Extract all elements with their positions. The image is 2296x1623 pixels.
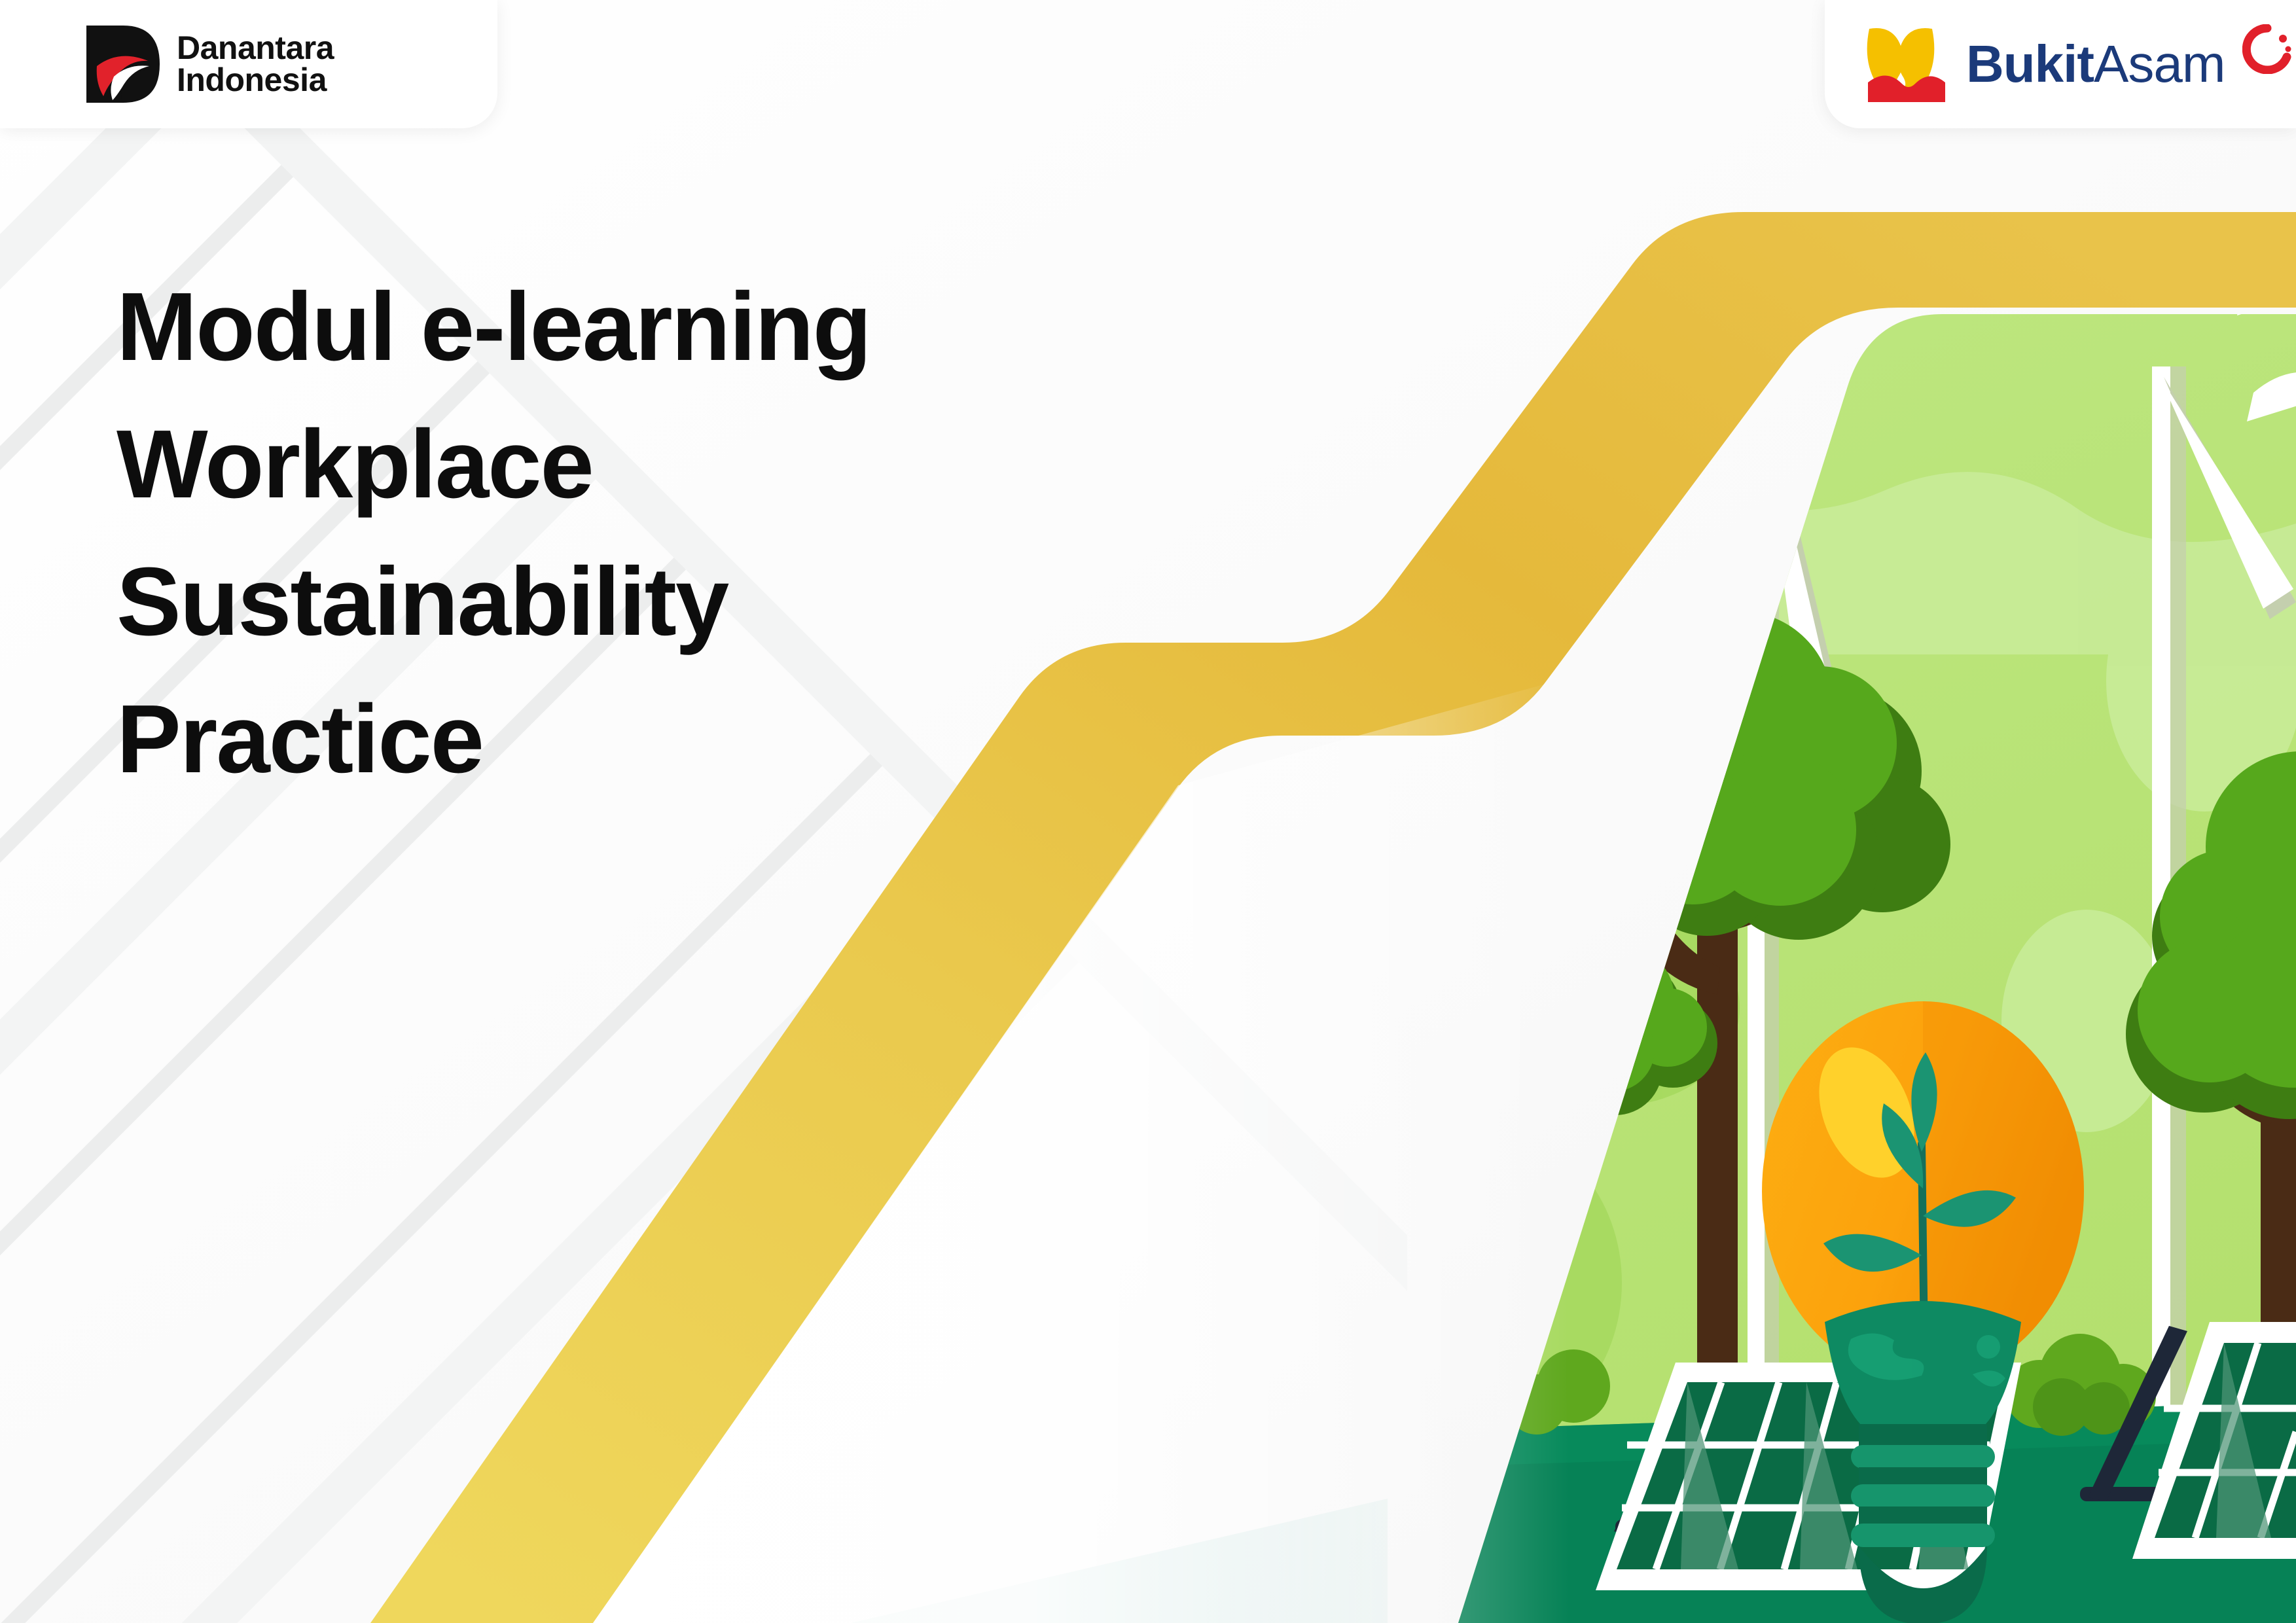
danantara-line-1: Danantara <box>177 32 334 64</box>
bukit-word: Bukit <box>1966 38 2094 90</box>
page-title: Modul e-learning Workplace Sustainabilit… <box>117 259 1098 809</box>
danantara-mark-icon <box>85 23 162 105</box>
danantara-wordmark: Danantara Indonesia <box>177 32 334 96</box>
bukit-asam-logo-card: Bukit Asam <box>1825 0 2296 128</box>
danantara-line-2: Indonesia <box>177 64 334 96</box>
danantara-logo: Danantara Indonesia <box>85 23 334 105</box>
title-line-4: Practice <box>117 671 1098 808</box>
asam-word: Asam <box>2094 38 2225 90</box>
bukit-asam-wordmark: Bukit Asam <box>1966 38 2225 90</box>
bukit-asam-logo: Bukit Asam <box>1864 24 2292 104</box>
title-line-2: Workplace <box>117 396 1098 533</box>
bukit-asam-badge-icon <box>2242 24 2292 74</box>
bukit-asam-mark-icon <box>1864 25 1949 103</box>
yellow-diagonal-band <box>0 0 2296 1623</box>
title-line-3: Sustainability <box>117 533 1098 671</box>
title-line-1: Modul e-learning <box>117 259 1098 396</box>
slide-canvas: Modul e-learning Workplace Sustainabilit… <box>0 0 2296 1623</box>
danantara-logo-card: Danantara Indonesia <box>0 0 497 128</box>
